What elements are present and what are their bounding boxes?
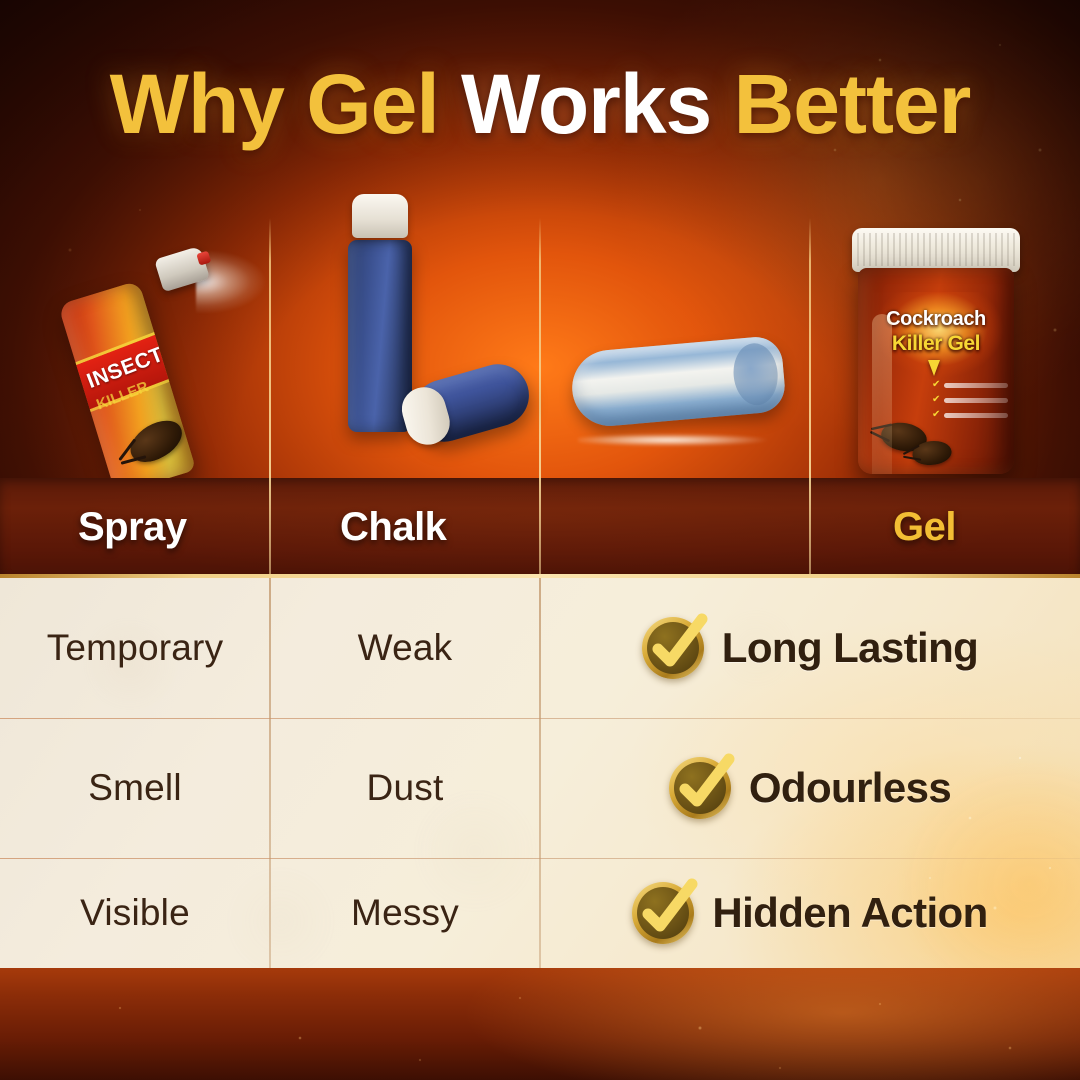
- infographic-canvas: Why Gel Works Better INSECT KILLER: [0, 0, 1080, 1080]
- title-part-3: Better: [711, 57, 970, 151]
- bottom-ember-band: [0, 968, 1080, 1080]
- gel-bullet-2: ✔: [932, 395, 1008, 405]
- spray-can-icon: INSECT KILLER: [92, 248, 262, 478]
- page-title: Why Gel Works Better: [0, 62, 1080, 146]
- check-badge-icon: [632, 882, 694, 944]
- gel-label-bullets: ✔ ✔ ✔: [932, 380, 1008, 425]
- chalk-cap-upright: [352, 194, 408, 238]
- cell-gel-1: Long Lasting: [540, 578, 1080, 718]
- title-part-2: Works: [461, 57, 711, 151]
- cell-gel-label-1: Long Lasting: [722, 624, 978, 672]
- check-mark-icon: ✔: [932, 395, 940, 405]
- header-divider-3: [809, 478, 811, 578]
- header-divider-1: [269, 478, 271, 578]
- comparison-table: Temporary Weak Long Lasting Smell Dust: [0, 578, 1080, 968]
- spray-mist-icon: [196, 244, 316, 314]
- check-mark-icon: ✔: [932, 410, 940, 420]
- cell-gel-3: Hidden Action: [540, 858, 1080, 968]
- powder-chalk-piece: [569, 335, 787, 429]
- cell-spray-2: Smell: [0, 718, 270, 858]
- gel-bullet-1: ✔: [932, 380, 1008, 390]
- spray-can-body: INSECT KILLER: [58, 280, 196, 494]
- jar-glass-highlight: [872, 314, 892, 474]
- powder-dust-trail: [578, 432, 774, 448]
- title-part-1: Why Gel: [110, 57, 461, 151]
- header-label-chalk: Chalk: [340, 505, 446, 550]
- gel-jar-lid: [852, 228, 1020, 272]
- cell-chalk-2: Dust: [270, 718, 540, 858]
- cell-chalk-1: Weak: [270, 578, 540, 718]
- header-divider-2: [539, 478, 541, 578]
- header-label-spray: Spray: [78, 505, 187, 550]
- cell-spray-1: Temporary: [0, 578, 270, 718]
- gel-jar-body: Cockroach Killer Gel ✔ ✔ ✔: [858, 268, 1014, 474]
- header-label-gel: Gel: [893, 505, 956, 550]
- check-mark-icon: ✔: [932, 380, 940, 390]
- lightning-bolt-icon: [928, 360, 940, 376]
- cell-chalk-3: Messy: [270, 858, 540, 968]
- gel-bullet-3: ✔: [932, 410, 1008, 420]
- gel-jar-icon: Cockroach Killer Gel ✔ ✔ ✔: [846, 228, 1026, 480]
- chalk-powder-icon: [572, 328, 802, 468]
- check-badge-icon: [642, 617, 704, 679]
- cell-spray-3: Visible: [0, 858, 270, 968]
- chalk-stick-lying: [406, 357, 537, 449]
- check-badge-icon: [669, 757, 731, 819]
- cell-gel-2: Odourless: [540, 718, 1080, 858]
- cell-gel-label-3: Hidden Action: [712, 889, 987, 937]
- cockroach-icon: [123, 412, 189, 470]
- chalk-stick-icon: [330, 222, 520, 480]
- cell-gel-label-2: Odourless: [749, 764, 951, 812]
- product-shelf: INSECT KILLER Cockroach Killer Gel: [0, 180, 1080, 480]
